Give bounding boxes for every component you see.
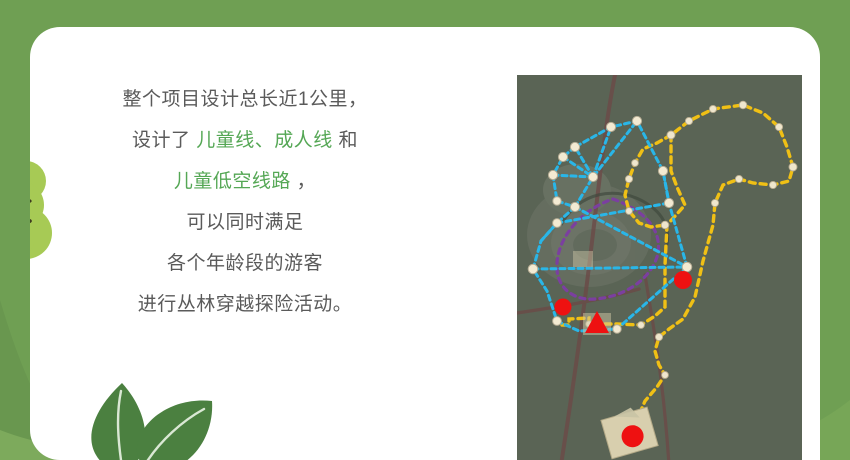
description-paragraph: 整个项目设计总长近1公里， 设计了 儿童线、成人线 和 儿童低空线路 ， 可以同… [90,79,400,325]
highlight-segment: 儿童线、成人线 [196,130,333,151]
text-segment: 各个年龄段的游客 [167,253,323,274]
text-segment: ， [297,171,317,192]
shelter-building [573,251,593,267]
two-leaves-icon [78,379,228,460]
paragraph-line-1: 整个项目设计总长近1公里， [90,79,400,120]
text-segment: 设计了 [132,130,191,151]
paragraph-line-5: 各个年龄段的游客 [90,243,400,284]
paragraph-line-3: 儿童低空线路 ， [90,161,400,202]
paragraph-line-6: 进行丛林穿越探险活动。 [90,284,400,325]
red-dot-marker [555,299,572,316]
text-segment: 进行丛林穿越探险活动。 [138,294,353,315]
red-triangle-marker [583,311,611,335]
site-plan-map[interactable] [517,75,802,460]
bush-icon [30,157,66,277]
text-segment: 和 [339,130,359,151]
paragraph-line-4: 可以同时满足 [90,202,400,243]
red-dot-marker [674,271,692,289]
paragraph-line-2: 设计了 儿童线、成人线 和 [90,120,400,161]
text-segment: 整个项目设计总长近1公里， [122,89,367,110]
content-card: 整个项目设计总长近1公里， 设计了 儿童线、成人线 和 儿童低空线路 ， 可以同… [30,27,820,460]
text-segment: 可以同时满足 [186,212,303,233]
highlight-segment: 儿童低空线路 [174,171,291,192]
